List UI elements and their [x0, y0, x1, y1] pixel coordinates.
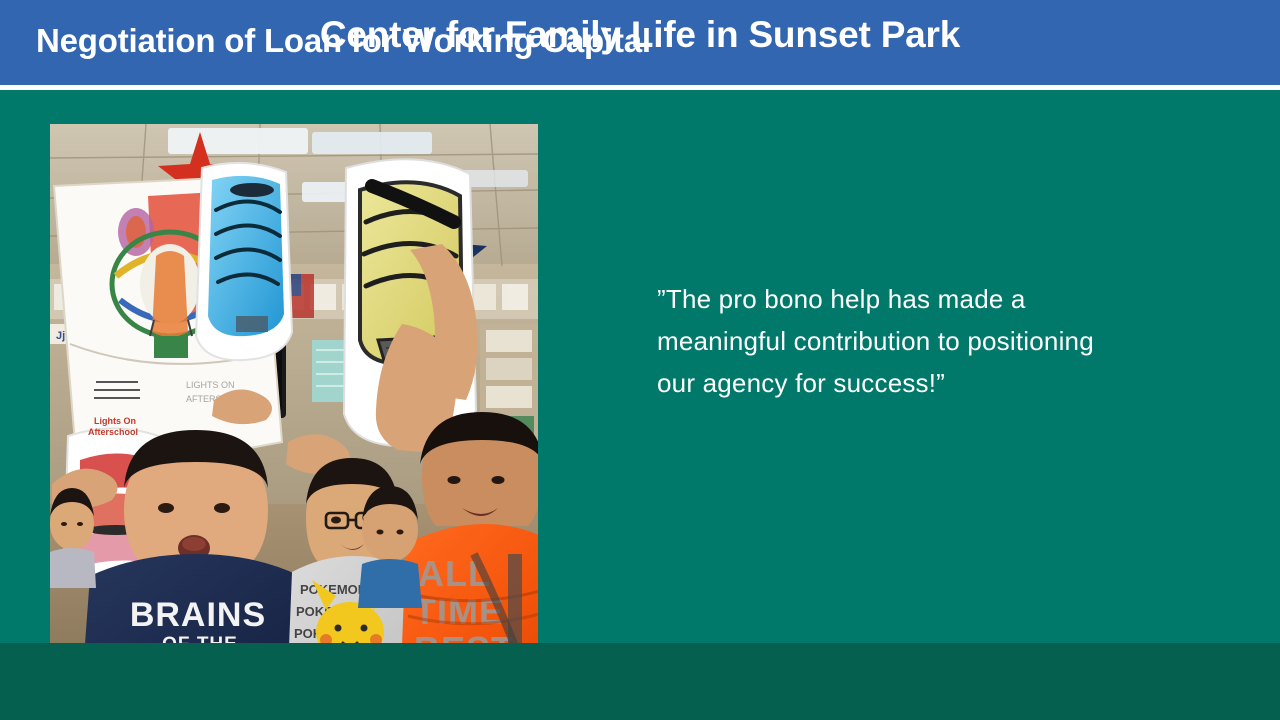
svg-text:Afterschool: Afterschool — [88, 427, 138, 437]
svg-text:Jj: Jj — [56, 330, 65, 342]
organization-name: Center for Family Life in Sunset Park — [0, 14, 1280, 56]
background-child-left — [50, 488, 96, 588]
svg-text:Lights On: Lights On — [94, 416, 136, 426]
background-child — [358, 486, 422, 608]
classroom-photo-illustration: JjKk LlMm NnOo Pp — [50, 124, 538, 643]
classroom-photo: JjKk LlMm NnOo Pp — [50, 124, 538, 643]
svg-text:OF THE: OF THE — [162, 634, 238, 643]
slide-footer-bar — [0, 643, 1280, 720]
lights-on-afterschool-label: Lights On Afterschool — [88, 410, 146, 444]
svg-text:BEST: BEST — [414, 629, 514, 643]
presentation-slide: Negotiation of Loan for Working Capital — [0, 0, 1280, 720]
svg-text:BRAINS: BRAINS — [130, 596, 266, 634]
testimonial-quote: ”The pro bono help has made a meaningful… — [657, 278, 1127, 404]
svg-text:LIGHTS ON: LIGHTS ON — [186, 380, 235, 390]
blue-cfl-bulb-cutout — [196, 163, 292, 360]
